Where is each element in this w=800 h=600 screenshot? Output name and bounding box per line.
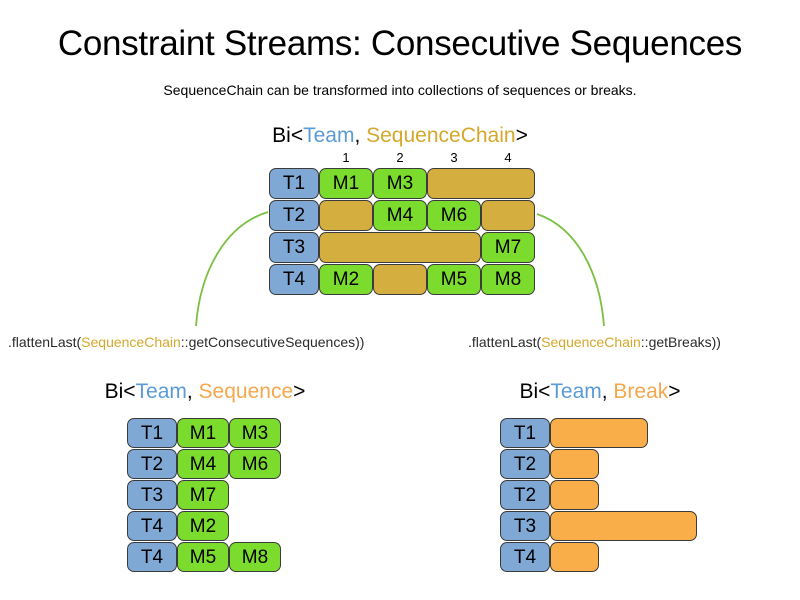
- top-match-cell-M4: M4: [373, 200, 427, 231]
- cell-label: M6: [441, 206, 467, 225]
- br-break-bar-2: [550, 480, 599, 510]
- cell-label: M8: [495, 270, 521, 289]
- cell-label: M5: [190, 548, 216, 567]
- bl-team-cell-3: T4: [127, 511, 177, 541]
- br-break-bar-0: [550, 418, 648, 448]
- cell-label: T3: [141, 486, 163, 505]
- column-number-4: 4: [481, 150, 535, 165]
- top-match-cell-M2: M2: [319, 264, 373, 295]
- cell-label: T3: [514, 517, 536, 536]
- cell-label: T4: [514, 548, 536, 567]
- cell-label: M6: [242, 455, 268, 474]
- column-number-3: 3: [427, 150, 481, 165]
- bottom-right-signature: Bi<Team, Break>: [400, 380, 800, 404]
- br-team-cell-4: T4: [500, 542, 550, 572]
- cell-label: T1: [514, 424, 536, 443]
- cell-label: T4: [141, 548, 163, 567]
- bottom-left-signature: Bi<Team, Sequence>: [0, 380, 410, 404]
- top-team-cell-T3: T3: [269, 232, 319, 263]
- page-title: Constraint Streams: Consecutive Sequence…: [0, 24, 800, 64]
- br-break-bar-3: [550, 511, 697, 541]
- bl-match-cell-M8: M8: [229, 542, 281, 572]
- cell-label: M4: [387, 206, 413, 225]
- transform-left-prefix: .flattenLast(: [8, 334, 81, 350]
- transform-right-method: ::getBreaks)): [641, 334, 721, 350]
- cell-label: T3: [283, 238, 305, 257]
- br-sig-break: Break: [613, 380, 668, 403]
- top-gap-cell-T2-3: [481, 200, 535, 231]
- top-match-cell-M8: M8: [481, 264, 535, 295]
- cell-label: M7: [190, 486, 216, 505]
- cell-label: M2: [333, 270, 359, 289]
- transform-left-type: SequenceChain: [81, 334, 181, 350]
- br-break-bar-1: [550, 449, 599, 479]
- page-subtitle: SequenceChain can be transformed into co…: [0, 82, 800, 98]
- top-sig-separator: ,: [354, 124, 366, 147]
- top-sig-prefix: Bi<: [272, 124, 303, 147]
- top-gap-cell-T4-1: [373, 264, 427, 295]
- bl-match-cell-M1: M1: [177, 418, 229, 448]
- bl-sig-suffix: >: [293, 380, 305, 403]
- cell-label: M7: [495, 238, 521, 257]
- br-sig-prefix: Bi<: [519, 380, 550, 403]
- top-sig-suffix: >: [516, 124, 528, 147]
- cell-label: M5: [441, 270, 467, 289]
- cell-label: T2: [283, 206, 305, 225]
- transform-label-left: .flattenLast(SequenceChain::getConsecuti…: [8, 334, 364, 350]
- cell-label: M1: [190, 424, 216, 443]
- bl-match-cell-M4: M4: [177, 449, 229, 479]
- cell-label: M1: [333, 174, 359, 193]
- bl-team-cell-1: T2: [127, 449, 177, 479]
- connector-left: [196, 212, 268, 326]
- br-team-cell-0: T1: [500, 418, 550, 448]
- top-team-cell-T2: T2: [269, 200, 319, 231]
- bl-match-cell-M2: M2: [177, 511, 229, 541]
- top-sig-team: Team: [303, 124, 354, 147]
- bl-team-cell-0: T1: [127, 418, 177, 448]
- bl-team-cell-2: T3: [127, 480, 177, 510]
- cell-label: M8: [242, 548, 268, 567]
- top-gap-cell-T2-0: [319, 200, 373, 231]
- column-number-1: 1: [319, 150, 373, 165]
- top-gap-cell-T1-2: [427, 168, 535, 199]
- bl-sig-sequence: Sequence: [199, 380, 294, 403]
- top-match-cell-M3: M3: [373, 168, 427, 199]
- top-match-cell-M7: M7: [481, 232, 535, 263]
- transform-left-method: ::getConsecutiveSequences)): [181, 334, 365, 350]
- top-match-cell-M6: M6: [427, 200, 481, 231]
- bl-sig-prefix: Bi<: [105, 380, 136, 403]
- br-break-bar-4: [550, 542, 599, 572]
- br-sig-separator: ,: [602, 380, 614, 403]
- cell-label: T2: [514, 486, 536, 505]
- top-signature: Bi<Team, SequenceChain>: [0, 124, 800, 148]
- connector-right: [537, 214, 604, 326]
- top-sig-chain: SequenceChain: [366, 124, 515, 147]
- column-number-2: 2: [373, 150, 427, 165]
- br-sig-team: Team: [550, 380, 601, 403]
- bl-match-cell-M3: M3: [229, 418, 281, 448]
- bl-match-cell-M6: M6: [229, 449, 281, 479]
- bl-sig-separator: ,: [187, 380, 199, 403]
- br-team-cell-1: T2: [500, 449, 550, 479]
- bl-sig-team: Team: [136, 380, 187, 403]
- top-match-cell-M1: M1: [319, 168, 373, 199]
- cell-label: T2: [141, 455, 163, 474]
- top-team-cell-T1: T1: [269, 168, 319, 199]
- top-gap-cell-T3-0: [319, 232, 481, 263]
- br-team-cell-3: T3: [500, 511, 550, 541]
- cell-label: T1: [141, 424, 163, 443]
- transform-right-prefix: .flattenLast(: [468, 334, 541, 350]
- cell-label: T1: [283, 174, 305, 193]
- cell-label: T2: [514, 455, 536, 474]
- cell-label: M4: [190, 455, 216, 474]
- cell-label: M2: [190, 517, 216, 536]
- transform-right-type: SequenceChain: [541, 334, 641, 350]
- top-match-cell-M5: M5: [427, 264, 481, 295]
- cell-label: M3: [242, 424, 268, 443]
- transform-label-right: .flattenLast(SequenceChain::getBreaks)): [468, 334, 721, 350]
- bl-team-cell-4: T4: [127, 542, 177, 572]
- top-team-cell-T4: T4: [269, 264, 319, 295]
- br-team-cell-2: T2: [500, 480, 550, 510]
- cell-label: T4: [141, 517, 163, 536]
- cell-label: T4: [283, 270, 305, 289]
- bl-match-cell-M5: M5: [177, 542, 229, 572]
- cell-label: M3: [387, 174, 413, 193]
- br-sig-suffix: >: [668, 380, 680, 403]
- bl-match-cell-M7: M7: [177, 480, 229, 510]
